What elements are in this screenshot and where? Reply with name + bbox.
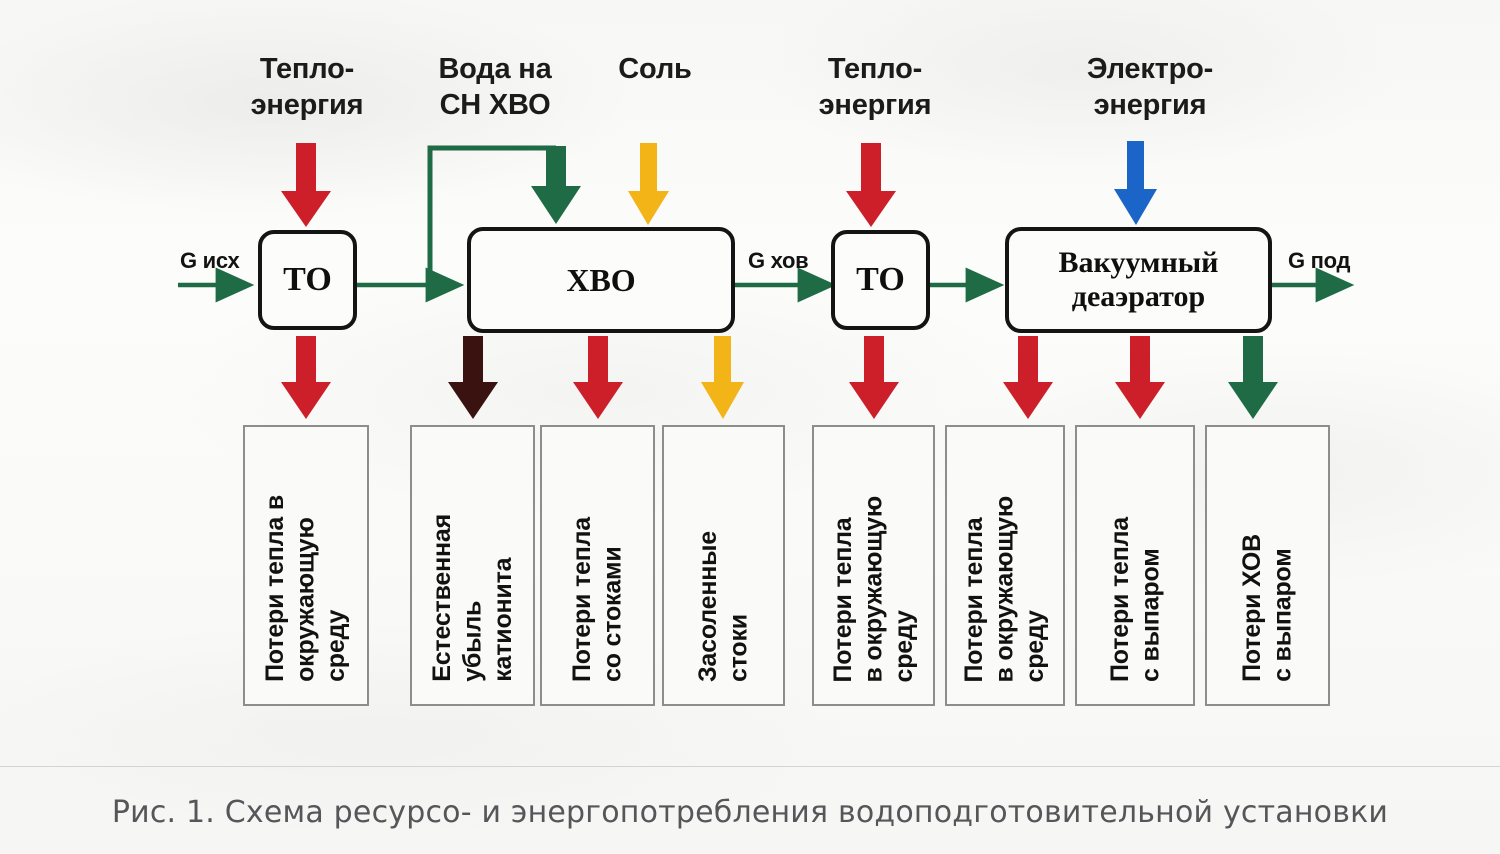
process-box-to-1-label: ТО <box>283 261 332 300</box>
loss-box-hov-with-vapor[interactable]: Потери ХОВ с выпаром <box>1205 425 1330 706</box>
loss-arrow-1 <box>281 336 331 419</box>
loss-box-heat-with-effluent[interactable]: Потери тепла со стоками <box>540 425 655 706</box>
loss-box-label-5: Потери тепла в окружающую среду <box>828 496 920 692</box>
process-box-hvo[interactable]: ХВО <box>467 227 735 333</box>
loss-box-label-3: Потери тепла со стоками <box>567 517 628 692</box>
loss-arrow-7 <box>1115 336 1165 419</box>
loss-box-label-4: Засоленные стоки <box>693 531 754 692</box>
loss-box-heat-to-environment-2[interactable]: Потери тепла в окружающую среду <box>812 425 935 706</box>
loss-box-label-6: Потери тепла в окружающую среду <box>959 496 1051 692</box>
loss-arrow-2 <box>448 336 498 419</box>
loss-box-label-1: Потери тепла в окружающую среду <box>260 495 352 692</box>
loss-box-label-7: Потери тепла с выпаром <box>1105 517 1166 692</box>
loss-arrow-5 <box>849 336 899 419</box>
loss-box-heat-with-vapor[interactable]: Потери тепла с выпаром <box>1075 425 1195 706</box>
flow-label-g-hov: G хов <box>748 248 808 274</box>
loss-arrow-6 <box>1003 336 1053 419</box>
process-box-hvo-label: ХВО <box>566 262 635 298</box>
input-arrow-heat-energy-1 <box>281 143 331 227</box>
loss-box-heat-to-environment-3[interactable]: Потери тепла в окружающую среду <box>945 425 1065 706</box>
input-arrow-salt <box>628 143 669 225</box>
loss-box-label-8: Потери ХОВ с выпаром <box>1237 534 1298 692</box>
input-arrow-water-sn-hvo <box>531 146 581 224</box>
process-box-to-1[interactable]: ТО <box>258 230 357 330</box>
process-box-deaerator-label: Вакуумный деаэратор <box>1059 246 1219 314</box>
flow-label-g-pod: G под <box>1288 248 1350 274</box>
loss-box-cationite-natural-loss[interactable]: Естественная убыль катионита <box>410 425 535 706</box>
flow-label-g-ish: G исх <box>180 248 239 274</box>
input-arrow-heat-energy-2 <box>846 143 896 227</box>
loss-arrow-8 <box>1228 336 1278 419</box>
process-box-deaerator[interactable]: Вакуумный деаэратор <box>1005 227 1272 333</box>
input-arrow-electric-energy <box>1114 141 1157 225</box>
process-box-to-2-label: ТО <box>856 261 905 300</box>
loss-box-label-2: Естественная убыль катионита <box>427 514 519 692</box>
figure-caption: Рис. 1. Схема ресурсо- и энергопотреблен… <box>0 795 1500 830</box>
loss-arrow-4 <box>701 336 744 419</box>
figure-canvas: Тепло- энергия Вода на СН ХВО Соль Тепло… <box>0 0 1500 854</box>
loss-box-heat-to-environment-1[interactable]: Потери тепла в окружающую среду <box>243 425 369 706</box>
loss-box-saline-effluent[interactable]: Засоленные стоки <box>662 425 785 706</box>
process-box-to-2[interactable]: ТО <box>831 230 930 330</box>
loss-arrow-3 <box>573 336 623 419</box>
